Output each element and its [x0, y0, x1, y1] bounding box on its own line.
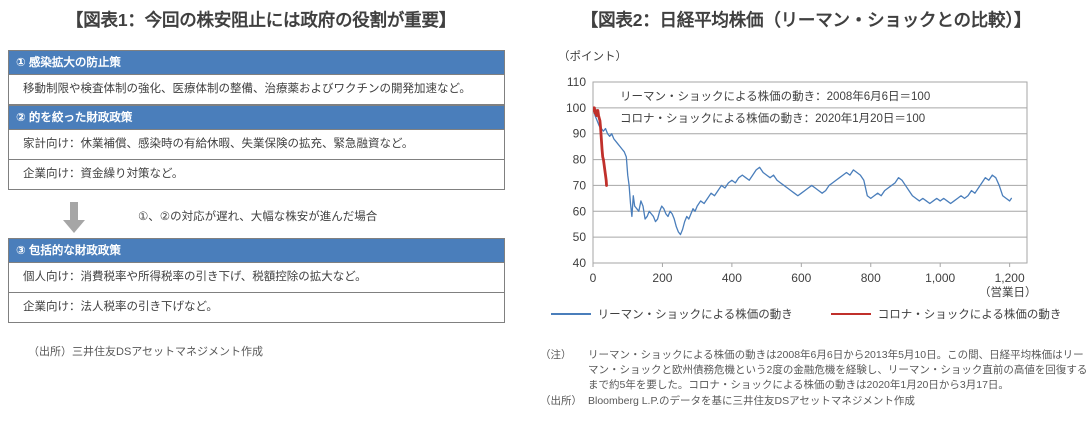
figure-page: 【図表1：今回の株安阻止には政府の役割が重要】 ① 感染拡大の防止策 移動制限や…	[0, 0, 1088, 427]
down-arrow-head-icon	[63, 220, 85, 233]
x-tick-label: 1,200	[995, 271, 1025, 285]
y-tick-label: 50	[573, 230, 587, 244]
x-tick-label: 0	[590, 271, 597, 285]
y-tick-label: 40	[573, 256, 587, 270]
legend-item-lehman: リーマン・ショックによる株価の動き	[551, 306, 793, 322]
left-source-note: （出所）三井住友DSアセットマネジメント作成	[28, 343, 263, 359]
annotation-lehman-base: リーマン・ショックによる株価の動き：2008年6月6日＝100	[617, 88, 933, 104]
y-tick-label: 90	[573, 127, 587, 141]
note-row-source: （出所） Bloomberg L.P.のデータを基に三井住友DSアセットマネジメ…	[540, 394, 1088, 409]
x-tick-label: 400	[722, 271, 742, 285]
section-header-1: ① 感染拡大の防止策	[9, 51, 504, 75]
policy-table-section-1: ① 感染拡大の防止策 移動制限や検査体制の強化、医療体制の整備、治療薬およびワク…	[8, 50, 505, 105]
y-tick-label: 80	[573, 153, 587, 167]
note-tag-source: （出所）	[540, 394, 588, 409]
section-header-3: ③ 包括的な財政政策	[9, 239, 504, 263]
section-row-3-1: 個人向け：消費税率や所得税率の引き下げ、税額控除の拡大など。	[9, 263, 504, 293]
right-notes: （注） リーマン・ショックによる株価の動きは2008年6月6日から2013年5月…	[540, 348, 1088, 409]
x-tick-label: 600	[791, 271, 811, 285]
x-tick-label: 800	[861, 271, 881, 285]
x-tick-label: 200	[652, 271, 672, 285]
right-figure-panel: 【図表2：日経平均株価（リーマン・ショックとの比較）】 （ポイント） 40506…	[524, 0, 1088, 427]
flow-arrow-band: ①、②の対応が遅れ、大幅な株安が進んだ場合	[8, 200, 505, 236]
left-figure-panel: 【図表1：今回の株安阻止には政府の役割が重要】 ① 感染拡大の防止策 移動制限や…	[0, 0, 522, 427]
policy-table-section-3: ③ 包括的な財政政策 個人向け：消費税率や所得税率の引き下げ、税額控除の拡大など…	[8, 238, 505, 323]
y-tick-label: 60	[573, 204, 587, 218]
section-row-3-2: 企業向け：法人税率の引き下げなど。	[9, 293, 504, 322]
down-arrow-icon	[70, 202, 78, 222]
legend-item-corona: コロナ・ショックによる株価の動き	[831, 306, 1062, 322]
section-row-2-2: 企業向け：資金繰り対策など。	[9, 160, 504, 189]
annotation-corona-base: コロナ・ショックによる株価の動き：2020年1月20日＝100	[617, 110, 928, 126]
x-tick-label: 1,000	[925, 271, 955, 285]
left-panel-title: 【図表1：今回の株安阻止には政府の役割が重要】	[0, 7, 522, 32]
chart-canvas: 40506070809010011002004006008001,0001,20…	[524, 0, 1088, 300]
legend-label-corona: コロナ・ショックによる株価の動き	[878, 306, 1062, 322]
legend-label-lehman: リーマン・ショックによる株価の動き	[598, 306, 793, 322]
chart-legend: リーマン・ショックによる株価の動き コロナ・ショックによる株価の動き	[524, 306, 1088, 322]
note-row-chu: （注） リーマン・ショックによる株価の動きは2008年6月6日から2013年5月…	[540, 348, 1088, 394]
note-tag-chu: （注）	[540, 348, 588, 363]
y-tick-label: 100	[566, 101, 586, 115]
section-row-1-1: 移動制限や検査体制の強化、医療体制の整備、治療薬およびワクチンの開発加速など。	[9, 75, 504, 104]
x-axis-unit-label: （営業日）	[979, 284, 1037, 300]
section-row-2-1: 家計向け：休業補償、感染時の有給休暇、失業保険の拡充、緊急融資など。	[9, 130, 504, 160]
y-tick-label: 70	[573, 178, 587, 192]
legend-line-swatch-red-icon	[831, 313, 871, 315]
nikkei-comparison-chart: 40506070809010011002004006008001,0001,20…	[524, 0, 1088, 300]
section-header-2: ② 的を絞った財政政策	[9, 106, 504, 130]
flow-arrow-note: ①、②の対応が遅れ、大幅な株安が進んだ場合	[138, 208, 377, 224]
policy-table-section-2: ② 的を絞った財政政策 家計向け：休業補償、感染時の有給休暇、失業保険の拡充、緊…	[8, 105, 505, 190]
note-body-chu: リーマン・ショックによる株価の動きは2008年6月6日から2013年5月10日。…	[588, 348, 1088, 394]
note-body-source: Bloomberg L.P.のデータを基に三井住友DSアセットマネジメント作成	[588, 394, 1088, 409]
legend-line-swatch-blue-icon	[551, 313, 591, 315]
y-tick-label: 110	[567, 75, 586, 89]
